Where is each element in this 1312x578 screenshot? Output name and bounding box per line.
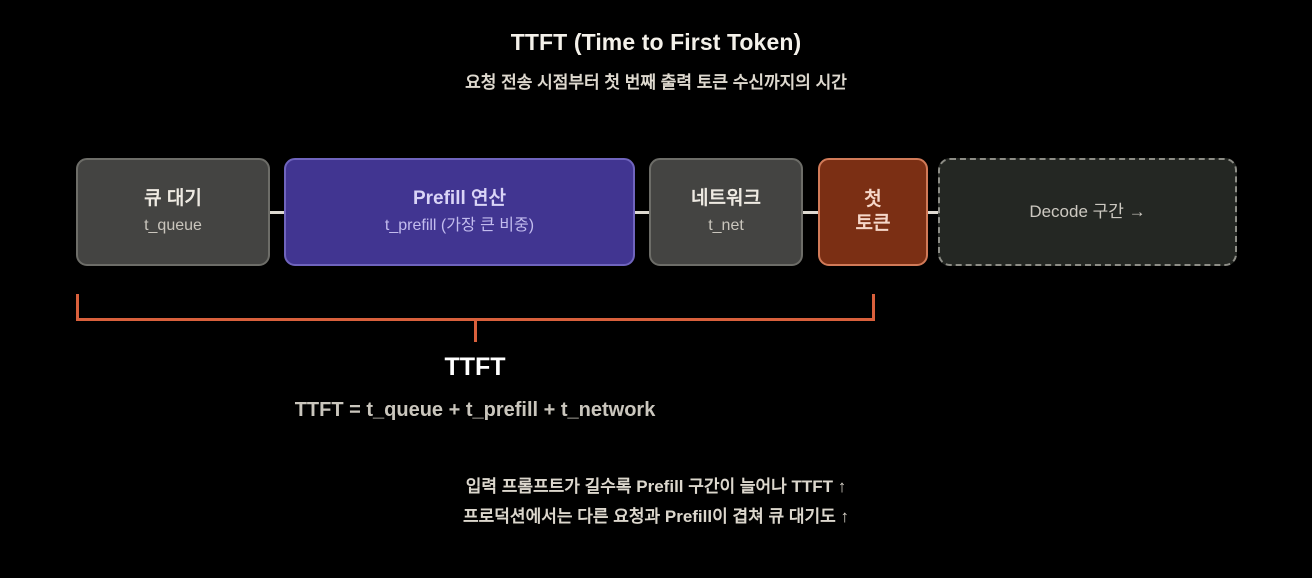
stage-title-first-token: 첫 토큰 [856,188,891,236]
diagram-canvas: TTFT (Time to First Token) 요청 전송 시점부터 첫 … [0,0,1312,578]
stage-subtitle-network: t_net [708,216,744,237]
bracket-tick-left [76,294,79,321]
note-line-2: 프로덕션에서는 다른 요청과 Prefill이 겹쳐 큐 대기도 ↑ [256,502,1056,532]
page-title: TTFT (Time to First Token) [0,29,1312,56]
ttft-formula: TTFT = t_queue + t_prefill + t_network [175,399,775,422]
stage-title-decode: Decode 구간 → [1029,201,1145,222]
stage-box-decode: Decode 구간 → [938,158,1237,266]
stage-subtitle-prefill: t_prefill (가장 큰 비중) [385,216,534,237]
bracket-stem [474,318,477,342]
ttft-label: TTFT [374,353,576,382]
note-line-1: 입력 프롬프트가 길수록 Prefill 구간이 늘어나 TTFT ↑ [256,472,1056,502]
stage-box-prefill: Prefill 연산 t_prefill (가장 큰 비중) [284,158,635,266]
stage-title-network: 네트워크 [691,187,761,211]
stage-title-prefill: Prefill 연산 [413,187,506,211]
page-subtitle: 요청 전송 시점부터 첫 번째 출력 토큰 수신까지의 시간 [0,68,1312,93]
stage-box-first-token: 첫 토큰 [818,158,928,266]
ttft-bracket [76,294,875,321]
stage-subtitle-queue: t_queue [144,216,202,237]
stage-title-queue: 큐 대기 [144,187,202,211]
bracket-tick-right [872,294,875,321]
stage-box-queue: 큐 대기 t_queue [76,158,270,266]
notes-block: 입력 프롬프트가 길수록 Prefill 구간이 늘어나 TTFT ↑ 프로덕션… [256,472,1056,532]
stage-box-network: 네트워크 t_net [649,158,803,266]
